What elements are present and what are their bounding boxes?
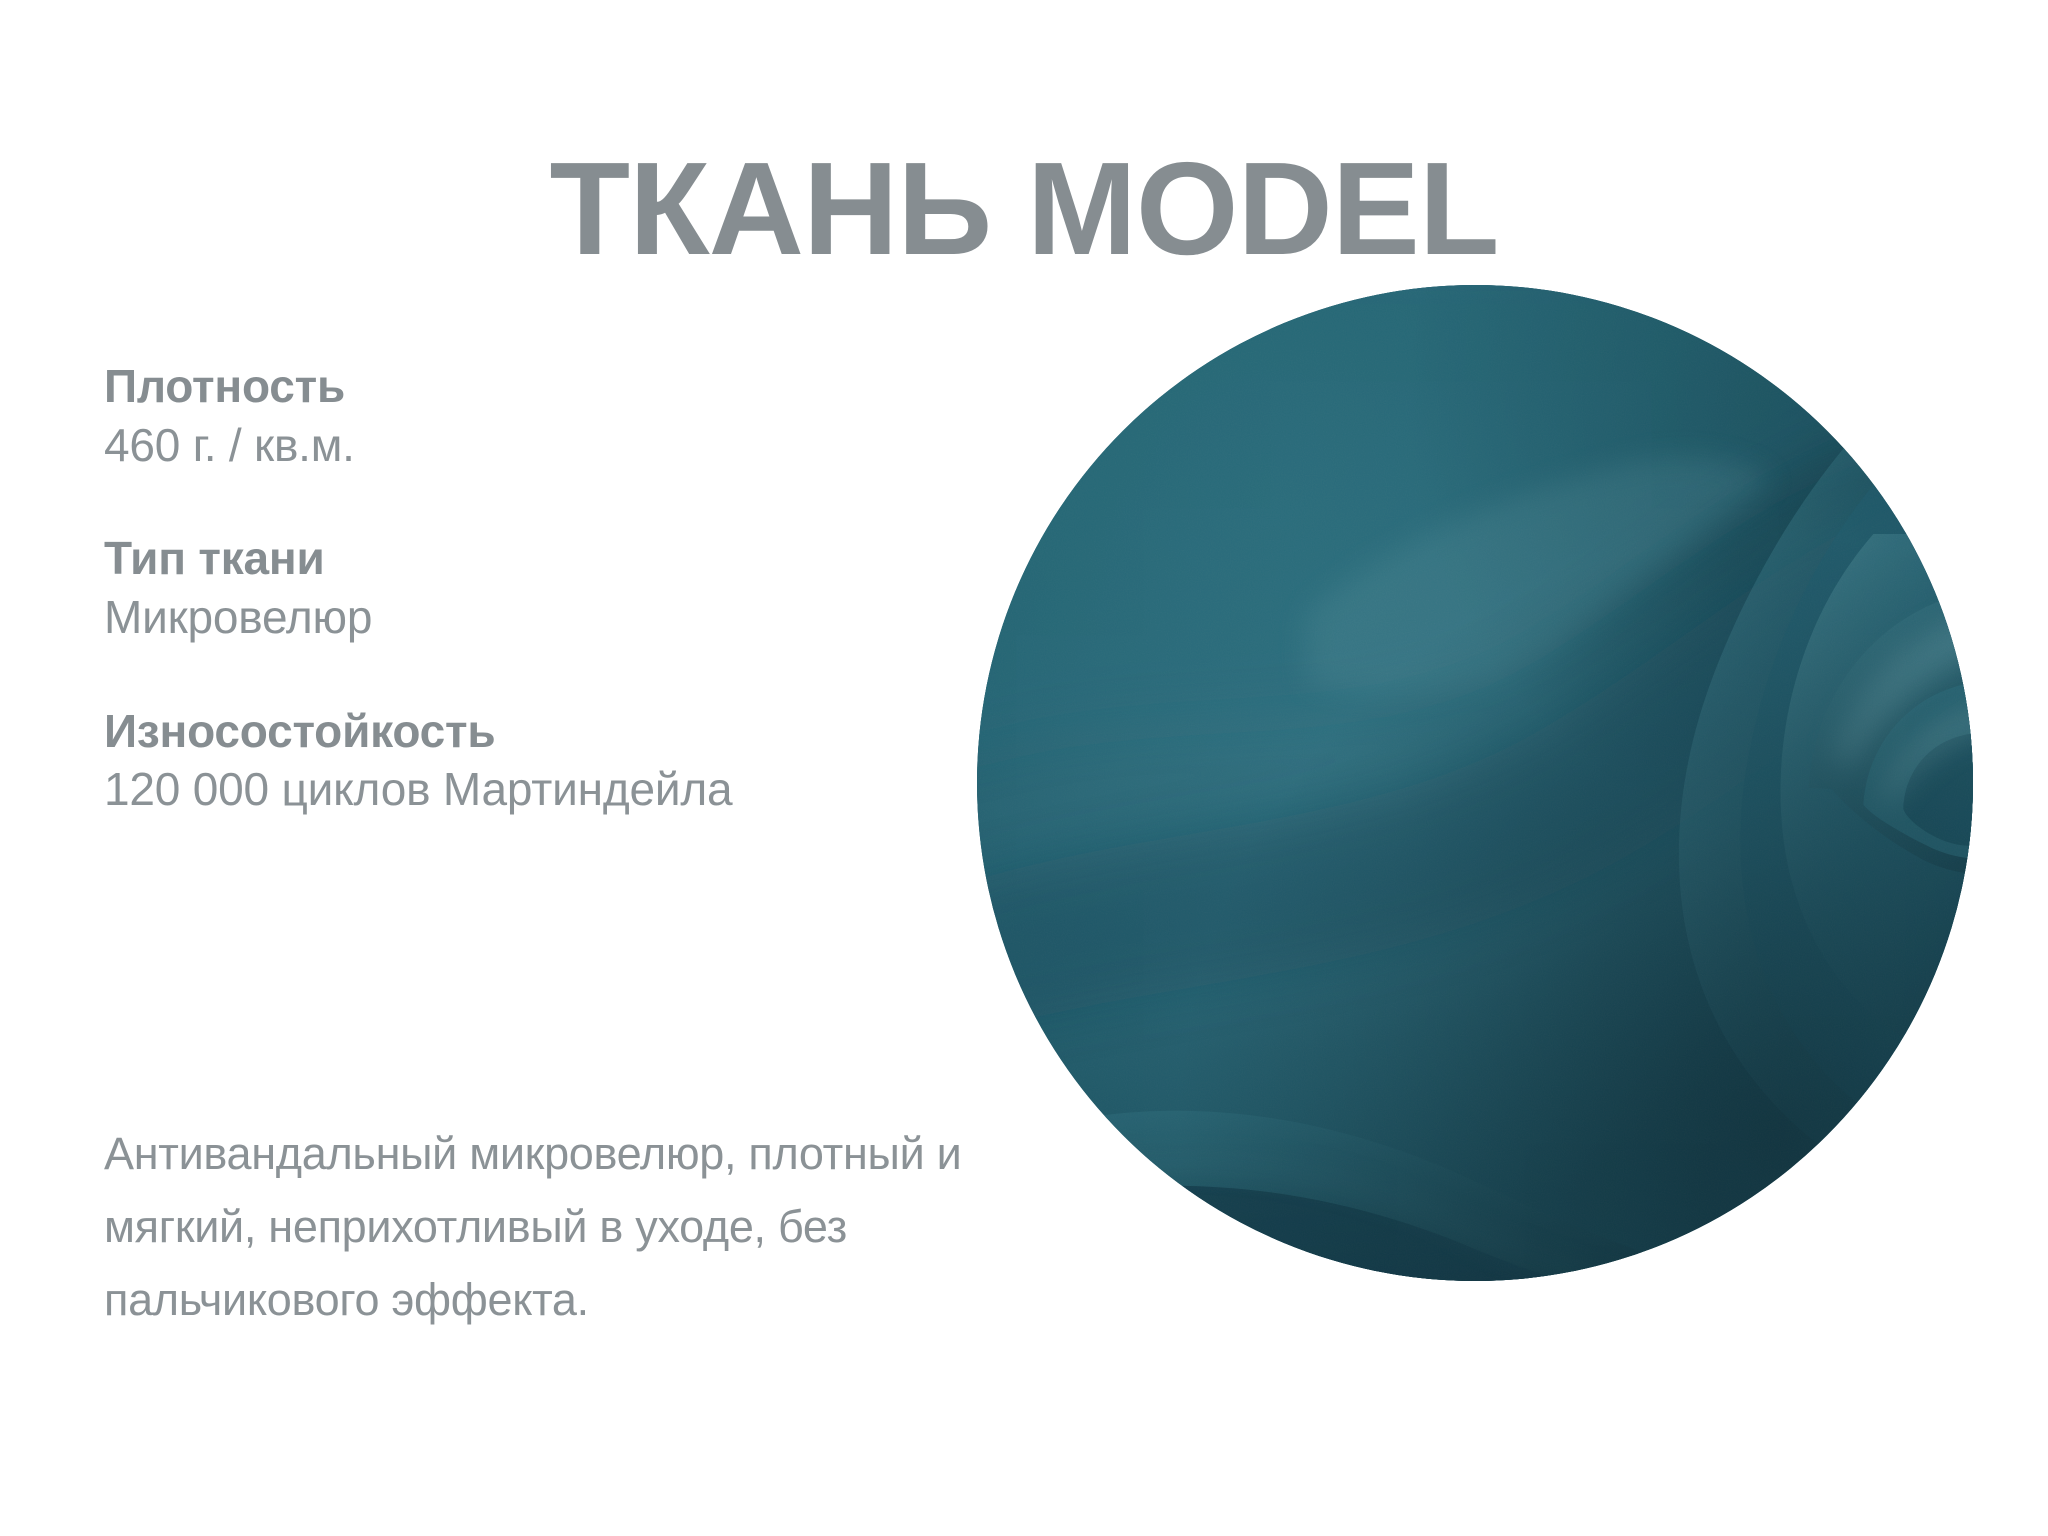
spec-value: 460 г. / кв.м. [104, 416, 884, 475]
fabric-swatch-photo [977, 285, 1973, 1281]
spec-list: Плотность 460 г. / кв.м. Тип ткани Микро… [104, 358, 884, 819]
spec-item-fabric-type: Тип ткани Микровелюр [104, 530, 884, 646]
spec-item-density: Плотность 460 г. / кв.м. [104, 358, 884, 474]
spec-item-abrasion-resistance: Износостойкость 120 000 циклов Мартиндей… [104, 703, 884, 819]
page-title: ТКАНЬ MODEL [0, 140, 2048, 279]
spec-value: Микровелюр [104, 588, 884, 647]
spec-label: Плотность [104, 358, 884, 416]
spec-value: 120 000 циклов Мартиндейла [104, 760, 744, 819]
spec-label: Тип ткани [104, 530, 884, 588]
fabric-illustration [977, 285, 1973, 1281]
spec-label: Износостойкость [104, 703, 884, 761]
slide-root: ТКАНЬ MODEL Плотность 460 г. / кв.м. Тип… [0, 0, 2048, 1536]
description-text: Антивандальный микровелюр, плотный и мяг… [104, 1118, 1004, 1337]
